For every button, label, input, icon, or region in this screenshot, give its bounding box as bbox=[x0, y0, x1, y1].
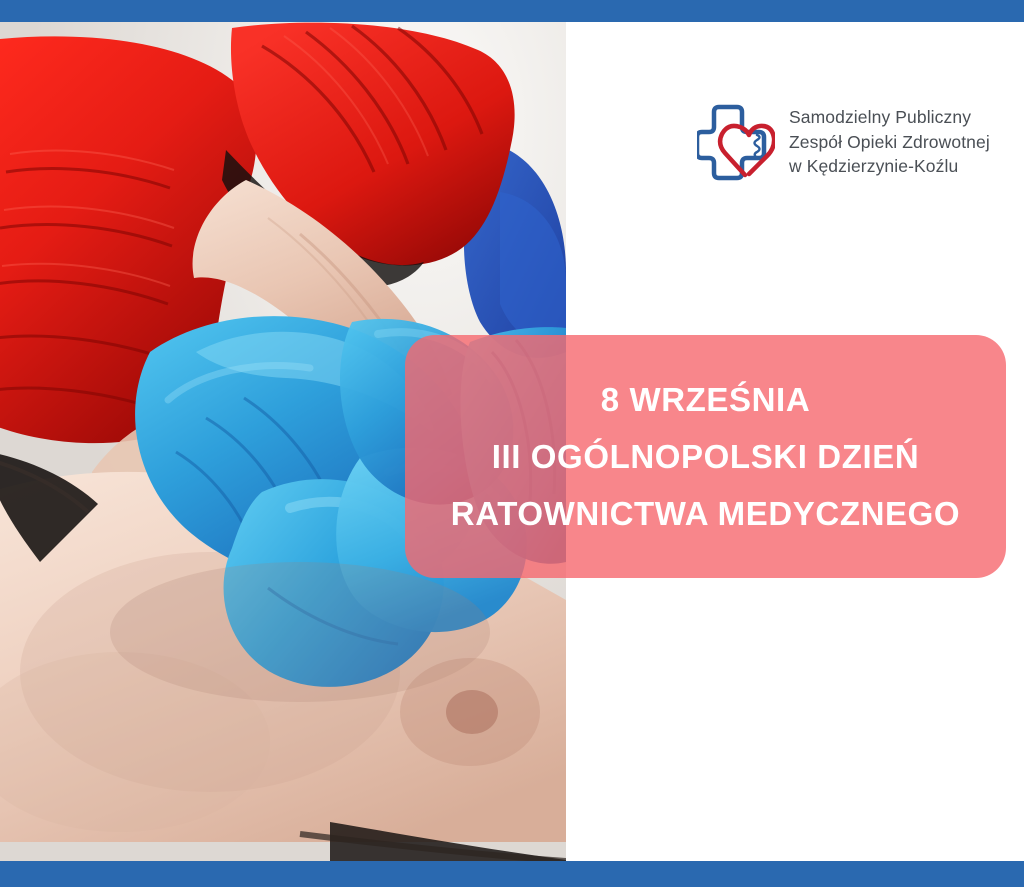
logo-text-line-1: Samodzielny Publiczny bbox=[789, 105, 990, 130]
hospital-logo: Samodzielny Publiczny Zespół Opieki Zdro… bbox=[697, 92, 1007, 192]
event-callout-box: 8 WRZEŚNIA III OGÓLNOPOLSKI DZIEŃ RATOWN… bbox=[405, 335, 1006, 578]
callout-line-title-2: RATOWNICTWA MEDYCZNEGO bbox=[451, 497, 960, 530]
callout-line-date: 8 WRZEŚNIA bbox=[601, 383, 811, 416]
bottom-border-bar bbox=[0, 861, 1024, 887]
poster-canvas: Samodzielny Publiczny Zespół Opieki Zdro… bbox=[0, 0, 1024, 887]
hospital-logo-text: Samodzielny Publiczny Zespół Opieki Zdro… bbox=[789, 105, 990, 180]
top-border-bar bbox=[0, 0, 1024, 22]
logo-text-line-3: w Kędzierzynie-Koźlu bbox=[789, 154, 990, 179]
cross-heart-caduceus-icon bbox=[697, 101, 775, 183]
callout-line-title-1: III OGÓLNOPOLSKI DZIEŃ bbox=[492, 440, 920, 473]
logo-text-line-2: Zespół Opieki Zdrowotnej bbox=[789, 130, 990, 155]
